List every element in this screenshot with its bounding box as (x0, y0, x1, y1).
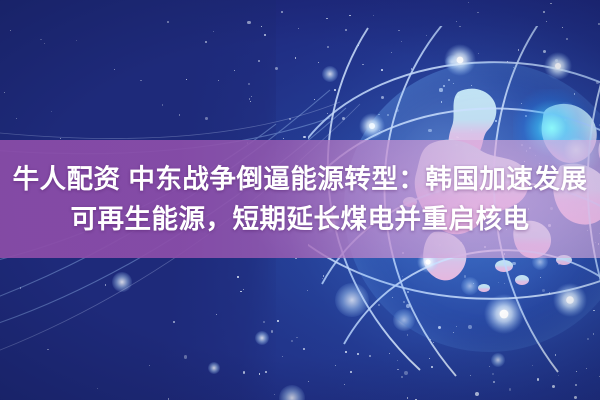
headline-text-block: 牛人配资 中东战争倒逼能源转型：韩国加速发展 可再生能源，短期延长煤电并重启核电 (0, 140, 600, 258)
headline-line-2: 可再生能源，短期延长煤电并重启核电 (71, 202, 530, 236)
headline-line-1: 牛人配资 中东战争倒逼能源转型：韩国加速发展 (13, 162, 588, 196)
news-banner: 牛人配资 中东战争倒逼能源转型：韩国加速发展 可再生能源，短期延长煤电并重启核电 (0, 0, 600, 400)
